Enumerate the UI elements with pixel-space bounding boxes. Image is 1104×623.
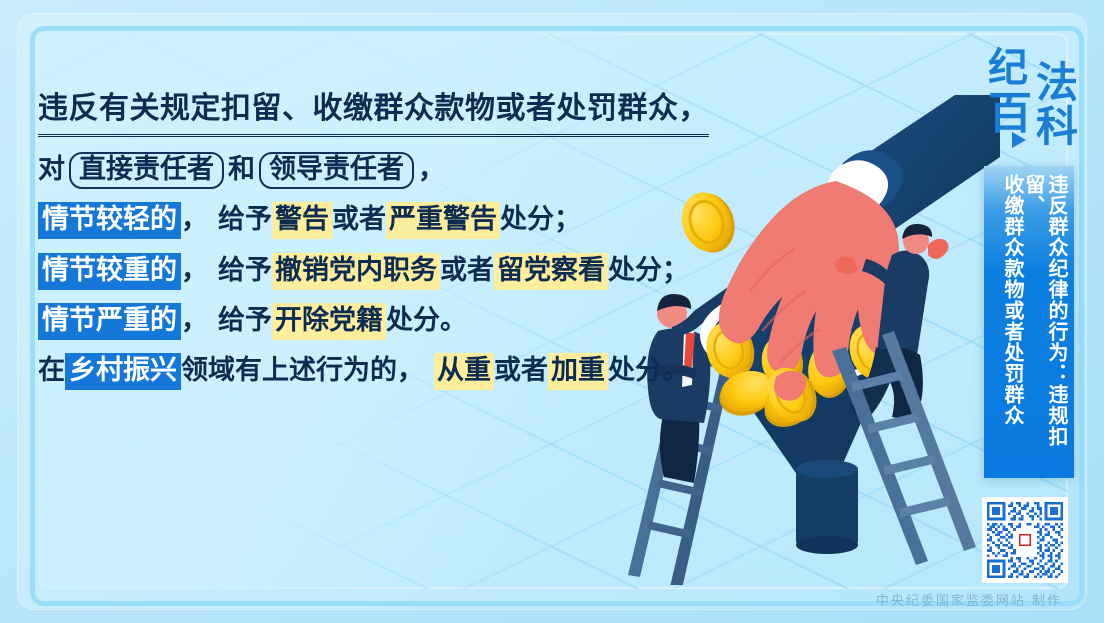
text-line-3: 情节较轻的，给予警告或者严重警告处分； xyxy=(38,201,678,239)
logo-char-fa: 法 xyxy=(1036,62,1078,104)
text-line-4: 情节较重的，给予撤销党内职务或者留党察看处分； xyxy=(38,252,678,290)
line1-part4: 处罚群众 xyxy=(557,91,679,126)
line3-yellow-1: 警告 xyxy=(272,202,332,239)
line4-blue: 情节较重的 xyxy=(38,253,181,290)
line6-yellow-1: 从重 xyxy=(434,353,494,390)
line2-lead: 对 xyxy=(38,154,65,185)
logo-char-ke: 科 xyxy=(1036,106,1078,148)
line3-mid: 或者 xyxy=(332,204,386,235)
line4-after-blue: ， xyxy=(181,255,208,286)
line3-tail: 处分； xyxy=(500,204,581,235)
line4-give: 给予 xyxy=(218,255,272,286)
line6-blue: 乡村振兴 xyxy=(65,353,181,390)
text-line-1: 违反有关规定扣留、收缴群众款物或者处罚群众， xyxy=(38,88,678,137)
policy-text-block: 违反有关规定扣留、收缴群众款物或者处罚群众， 对直接责任者和领导责任者， 情节较… xyxy=(38,88,678,400)
line3-blue: 情节较轻的 xyxy=(38,202,181,239)
vertical-title-banner: 违反群众纪律的行为：违规扣留、 收缴群众款物或者处罚群众 xyxy=(984,166,1074,478)
line4-tail: 处分； xyxy=(608,255,689,286)
text-line-5: 情节严重的，给予开除党籍处分。 xyxy=(38,302,678,340)
line1-part5: ， xyxy=(679,91,710,126)
line3-give: 给予 xyxy=(218,204,272,235)
line5-give: 给予 xyxy=(218,305,272,336)
line1-part2: 扣留、收缴群众款物 xyxy=(221,91,496,126)
line2-mid: 和 xyxy=(228,154,255,185)
pill-leadership-responsible: 领导责任者 xyxy=(259,152,414,190)
line6-mid-2: 或者 xyxy=(494,355,548,386)
line6-tail: 处分。 xyxy=(608,355,689,386)
line3-after-blue: ， xyxy=(181,204,208,235)
banner-column-1: 违反群众纪律的行为：违规扣留、 xyxy=(1026,174,1068,472)
line4-yellow-2: 留党察看 xyxy=(494,253,608,290)
pill-direct-responsible: 直接责任者 xyxy=(69,152,224,190)
qr-code-svg xyxy=(987,502,1063,578)
line1-part3: 或者 xyxy=(496,91,557,126)
line5-blue: 情节严重的 xyxy=(38,303,181,340)
line4-yellow-1: 撤销党内职务 xyxy=(272,253,440,290)
brand-logo: 纪 百 法 科 xyxy=(988,48,1080,160)
text-line-2: 对直接责任者和领导责任者， xyxy=(38,151,678,190)
line1-part1: 违反有关规定 xyxy=(38,91,221,126)
line6-yellow-2: 加重 xyxy=(548,353,608,390)
line4-mid: 或者 xyxy=(440,255,494,286)
line5-yellow-1: 开除党籍 xyxy=(272,303,386,340)
logo-char-ji: 纪 xyxy=(988,48,1028,88)
line5-after-blue: ， xyxy=(181,305,208,336)
coin-airborne xyxy=(674,185,742,260)
credit-text: 中央纪委国家监委网站 制作 xyxy=(876,590,1062,609)
poster-canvas: 违反有关规定扣留、收缴群众款物或者处罚群众， 对直接责任者和领导责任者， 情节较… xyxy=(0,0,1104,623)
line5-tail: 处分。 xyxy=(386,305,467,336)
line2-tail: ， xyxy=(418,154,445,185)
logo-char-bai: 百 xyxy=(988,92,1032,136)
line6-mid: 领域有上述行为的， xyxy=(181,355,424,386)
line3-yellow-2: 严重警告 xyxy=(386,202,500,239)
qr-code[interactable] xyxy=(982,497,1068,583)
banner-column-2: 收缴群众款物或者处罚群众 xyxy=(990,174,1024,472)
line6-lead: 在 xyxy=(38,355,65,386)
text-line-6: 在乡村振兴领域有上述行为的，从重或者加重处分。 xyxy=(38,352,678,390)
